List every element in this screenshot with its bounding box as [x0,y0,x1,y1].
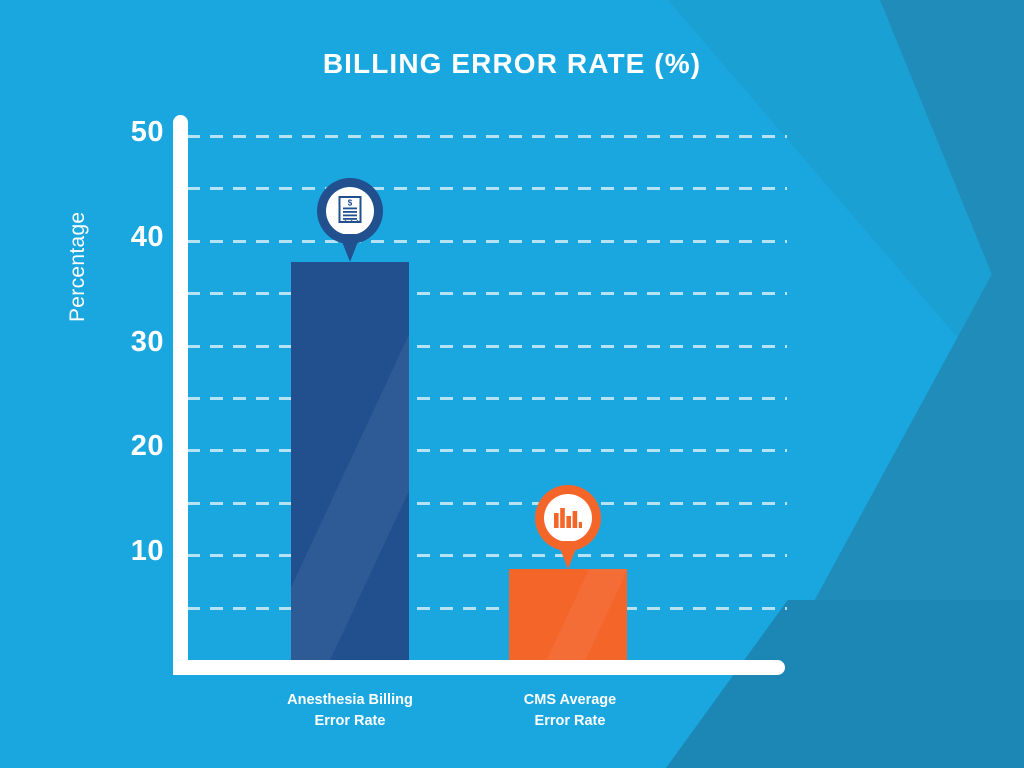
y-tick-label-40: 40 [104,221,164,254]
gridline [187,292,787,295]
marker-pin-tail [557,541,579,569]
bar-highlight-stripe [291,262,409,660]
y-axis-title: Percentage [66,282,90,322]
y-axis-tick-labels: 1020304050 [102,0,164,768]
chart-canvas: BILLING ERROR RATE (%) Percentage 102030… [0,0,1024,768]
gridline [187,554,787,557]
gridline [187,135,787,138]
y-tick-label-50: 50 [104,116,164,149]
bar-chart-icon [553,506,583,530]
marker-pin-0[interactable]: $ [317,178,383,262]
bar-0[interactable] [291,262,409,660]
y-axis-line [173,115,188,665]
y-tick-label-30: 30 [104,326,164,359]
plot-area: $ [187,115,787,660]
x-axis-category-label-1: CMS AverageError Rate [460,690,680,732]
gridline [187,449,787,452]
y-tick-label-20: 20 [104,430,164,463]
gridline [187,397,787,400]
bar-1[interactable] [509,569,627,660]
marker-pin-tail [339,234,361,262]
y-tick-label-10: 10 [104,535,164,568]
gridline [187,502,787,505]
marker-pin-1[interactable] [535,485,601,569]
category-label-line: CMS Average [460,690,680,711]
svg-text:$: $ [348,198,353,207]
x-axis-category-label-0: Anesthesia BillingError Rate [240,690,460,732]
category-label-line: Error Rate [460,711,680,732]
invoice-receipt-icon: $ [326,187,374,235]
invoice-receipt-icon: $ [337,196,363,226]
x-axis-line [173,660,785,675]
gridline [187,187,787,190]
category-label-line: Error Rate [240,711,460,732]
bar-highlight-stripe [509,569,627,660]
bar-chart-icon [544,494,592,542]
gridline [187,607,787,610]
gridline [187,240,787,243]
category-label-line: Anesthesia Billing [240,690,460,711]
gridline [187,345,787,348]
